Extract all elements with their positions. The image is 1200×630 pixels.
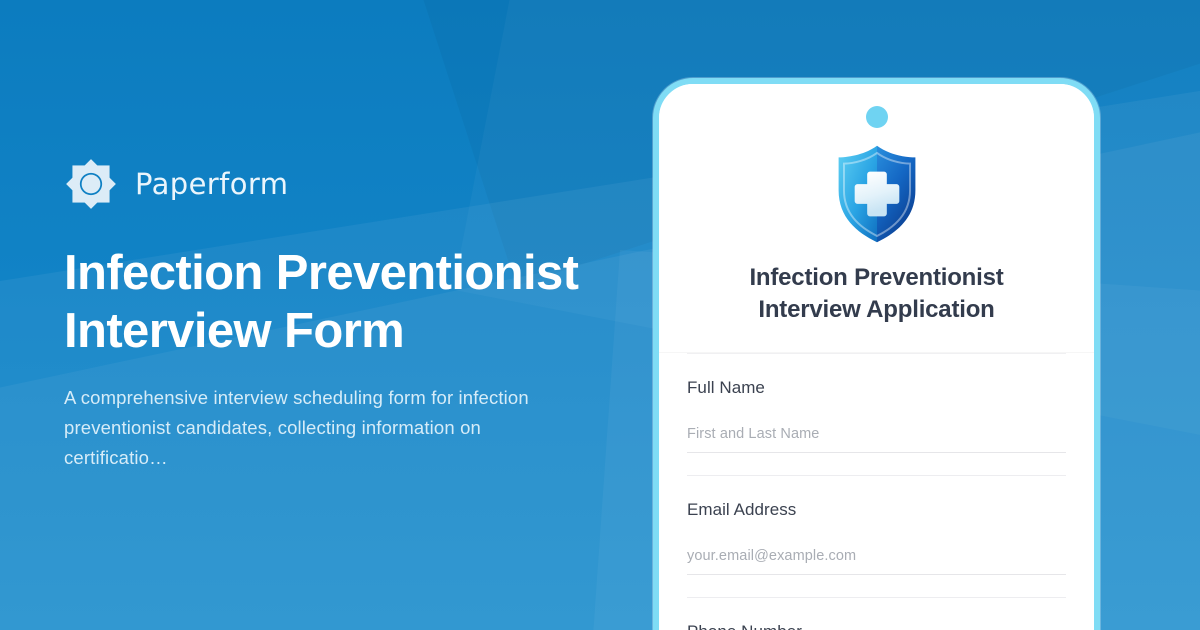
brand-lockup: Paperform	[64, 157, 664, 211]
form-title: Infection Preventionist Interview Applic…	[712, 262, 1042, 327]
form-field-phone-number[interactable]: Phone Number	[687, 598, 1066, 630]
page-description: A comprehensive interview scheduling for…	[64, 383, 544, 473]
email-address-input[interactable]: your.email@example.com	[687, 548, 1066, 575]
camera-dot-icon	[866, 106, 888, 128]
brand-name: Paperform	[135, 167, 288, 201]
phone-screen: Infection Preventionist Interview Applic…	[659, 84, 1094, 630]
hero-panel: Paperform Infection Preventionist Interv…	[64, 0, 664, 630]
paperform-rosette-icon	[64, 157, 118, 211]
page-title: Infection Preventionist Interview Form	[64, 245, 644, 361]
form-fields-card: Full Name First and Last Name Email Addr…	[659, 353, 1094, 630]
medical-shield-cross-icon	[831, 144, 923, 244]
form-field-full-name[interactable]: Full Name First and Last Name	[687, 353, 1066, 476]
field-label: Email Address	[687, 500, 1066, 520]
field-label: Full Name	[687, 378, 1066, 398]
full-name-input[interactable]: First and Last Name	[687, 426, 1066, 453]
phone-mockup: Infection Preventionist Interview Applic…	[653, 78, 1100, 630]
field-label: Phone Number	[687, 622, 1066, 630]
form-field-email-address[interactable]: Email Address your.email@example.com	[687, 476, 1066, 598]
